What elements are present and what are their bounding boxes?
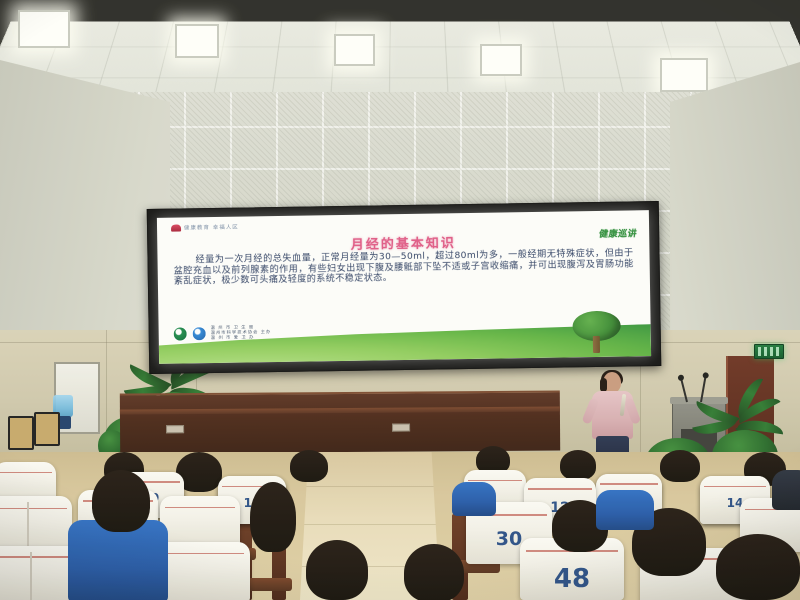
slide-logo-top-left-text: 健康教育 幸福人区 [184, 223, 239, 232]
house-icon [171, 224, 181, 231]
audience-head [404, 544, 464, 600]
exit-sign [754, 344, 784, 359]
ceiling-light-3 [334, 34, 375, 66]
science-association-emblem-icon [192, 326, 207, 341]
tree-trunk [593, 336, 600, 353]
auditorium-photo: 健康教育 幸福人区 健康巡讲 月经的基本知识 经量为一次月经的总失血量，正常月经… [0, 0, 800, 600]
ceiling-light-4 [480, 44, 522, 76]
audience-head [716, 534, 800, 600]
ceiling-light-2 [175, 24, 219, 58]
presentation-slide: 健康教育 幸福人区 健康巡讲 月经的基本知识 经量为一次月经的总失血量，正常月经… [157, 210, 651, 364]
audience-head [250, 482, 296, 552]
audience-head [306, 540, 368, 600]
student-jacket [68, 520, 168, 600]
slide-body-text: 经量为一次月经的总失血量，正常月经量为30—50ml，超过80ml为多，一般经期… [173, 248, 633, 287]
stage-table-rail [120, 406, 560, 414]
audience-head [290, 450, 328, 482]
footer-line-3: 温 州 市 爱 卫 办 [211, 335, 272, 341]
health-bureau-emblem-icon [173, 326, 188, 341]
audience-head [92, 470, 150, 532]
seat-seam [528, 488, 591, 490]
slide-footer: 温 州 市 卫 生 局 温州市科学技术协会 主办 温 州 市 爱 卫 办 [173, 325, 272, 342]
seat-number-label: 48 [520, 564, 624, 594]
seat-seam [600, 483, 658, 485]
exit-sign-glyphs [758, 347, 780, 356]
seat-seam [704, 486, 766, 488]
audience-head [660, 450, 700, 482]
ceiling-light-5 [660, 58, 708, 92]
student-jacket [452, 482, 496, 516]
side-chairs [8, 408, 70, 454]
name-plate-2 [392, 424, 410, 432]
led-display-screen: 健康教育 幸福人区 健康巡讲 月经的基本知识 经量为一次月经的总失血量，正常月经… [147, 201, 662, 374]
slide-footer-lines: 温 州 市 卫 生 局 温州市科学技术协会 主办 温 州 市 爱 卫 办 [211, 325, 272, 341]
presenter-hair-side [600, 378, 607, 392]
student-jacket [596, 490, 654, 530]
stage-table-panel [120, 390, 560, 453]
name-plate-1 [166, 425, 184, 433]
armrest [246, 578, 292, 591]
audience-head [560, 450, 596, 480]
ceiling-light-1 [18, 10, 70, 48]
slide-paragraph: 经量为一次月经的总失血量，正常月经量为30—50ml，超过80ml为多，一般经期… [173, 248, 633, 287]
student-jacket [772, 470, 800, 510]
tree-illustration [570, 311, 623, 354]
slide-logo-top-left: 健康教育 幸福人区 [171, 223, 239, 232]
